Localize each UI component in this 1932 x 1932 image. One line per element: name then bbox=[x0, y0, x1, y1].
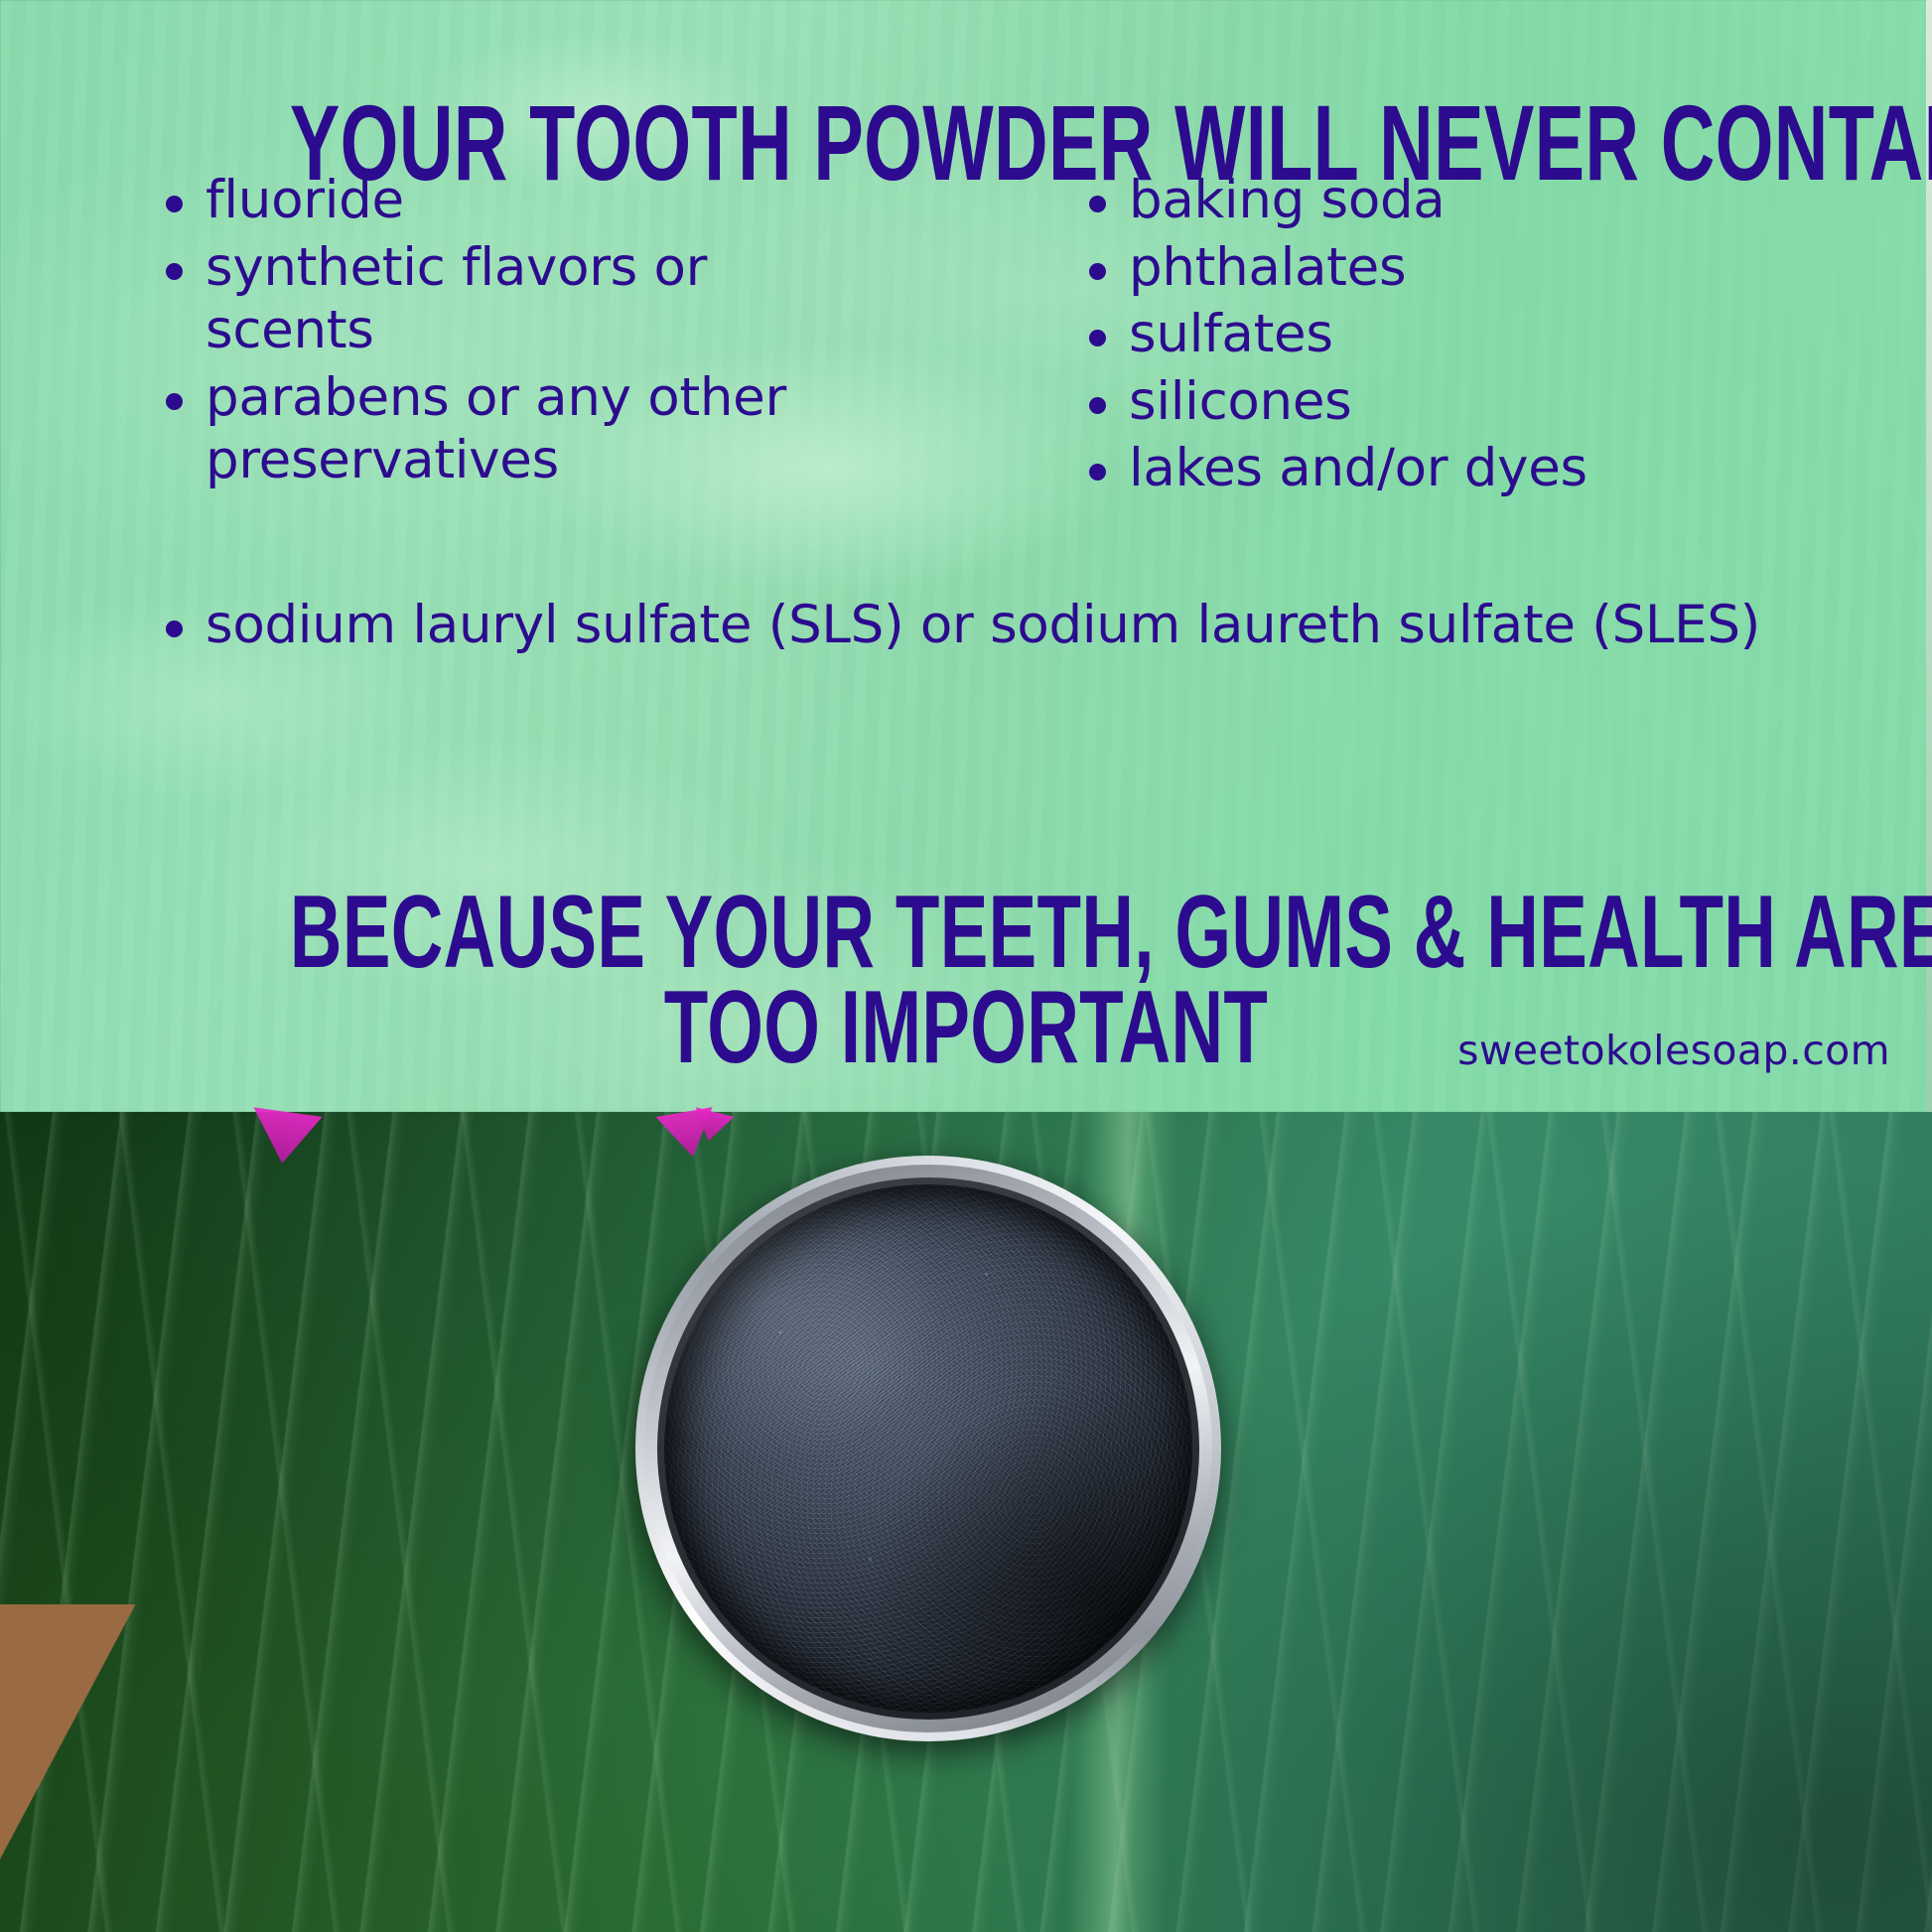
list-item: sulfates bbox=[1077, 303, 1772, 366]
list-item: phthalates bbox=[1077, 236, 1772, 300]
tooth-powder-infographic: YOUR TOOTH POWDER WILL NEVER CONTAIN: fl… bbox=[0, 0, 1932, 1932]
panel-content: YOUR TOOTH POWDER WILL NEVER CONTAIN: fl… bbox=[0, 0, 1932, 1112]
excluded-ingredients-wide-row: sodium lauryl sulfate (SLS) or sodium la… bbox=[154, 594, 1842, 661]
list-item: fluoride bbox=[154, 169, 869, 232]
text-panel: YOUR TOOTH POWDER WILL NEVER CONTAIN: fl… bbox=[0, 0, 1932, 1112]
list-item: silicones bbox=[1077, 370, 1772, 434]
charcoal-powder-tin bbox=[635, 1156, 1221, 1741]
list-item: sodium lauryl sulfate (SLS) or sodium la… bbox=[154, 594, 1842, 657]
closing-statement: BECAUSE YOUR TEETH, GUMS & HEALTH ARE TO… bbox=[290, 886, 1642, 1075]
list-item: synthetic flavors or scents bbox=[154, 236, 869, 362]
list-item: baking soda bbox=[1077, 169, 1772, 232]
closing-line-2: TOO IMPORTANT bbox=[290, 981, 1642, 1076]
closing-line-1: BECAUSE YOUR TEETH, GUMS & HEALTH ARE bbox=[290, 886, 1642, 981]
charcoal-powder-shading bbox=[664, 1184, 1192, 1713]
list-item: parabens or any other preservatives bbox=[154, 366, 869, 492]
excluded-ingredients-right-column: baking soda phthalates sulfates silicone… bbox=[1077, 169, 1772, 504]
website-url[interactable]: sweetokolesoap.com bbox=[1457, 1027, 1890, 1074]
excluded-ingredients-left-column: fluoride synthetic flavors or scents par… bbox=[154, 169, 869, 496]
list-item: lakes and/or dyes bbox=[1077, 437, 1772, 500]
